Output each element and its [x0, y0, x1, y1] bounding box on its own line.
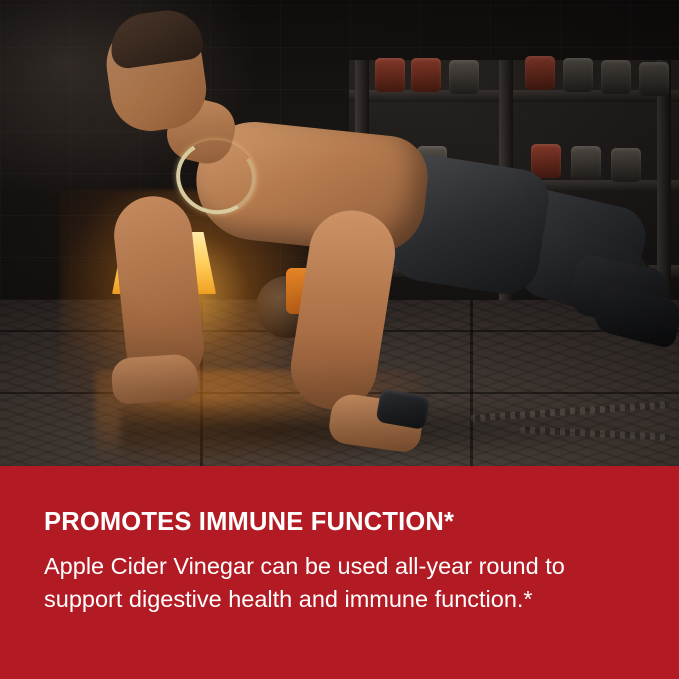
athlete [0, 0, 679, 466]
claim-panel: PROMOTES IMMUNE FUNCTION* Apple Cider Vi… [0, 466, 679, 679]
product-lifestyle-card: PROMOTES IMMUNE FUNCTION* Apple Cider Vi… [0, 0, 679, 679]
gym-photo [0, 0, 679, 466]
athlete-hand-left [111, 353, 200, 405]
claim-body: Apple Cider Vinegar can be used all-year… [44, 550, 604, 617]
claim-headline: PROMOTES IMMUNE FUNCTION* [44, 508, 635, 536]
